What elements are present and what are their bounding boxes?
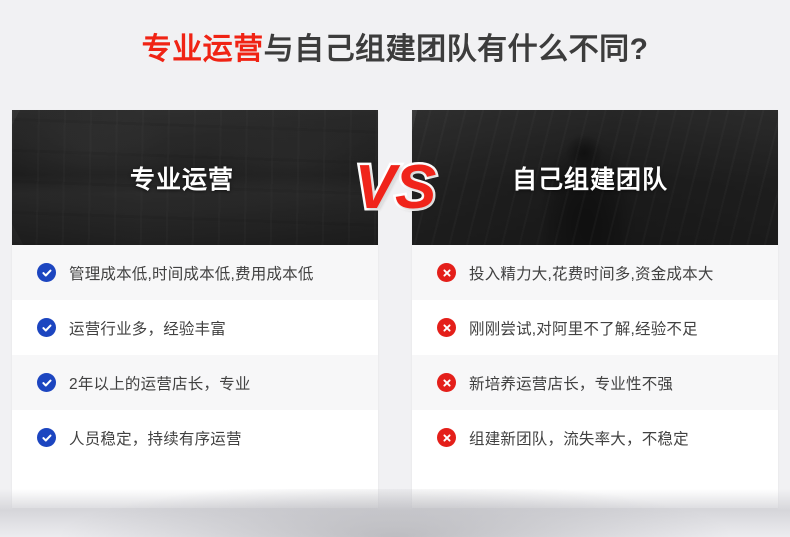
cross-circle-icon [437, 263, 456, 282]
list-item: 运营行业多，经验丰富 [12, 300, 378, 355]
feature-list-right: 投入精力大,花费时间多,资金成本大 刚刚尝试,对阿里不了解,经验不足 新培养运营… [412, 245, 778, 508]
check-circle-icon [37, 428, 56, 447]
list-item-label: 人员稳定，持续有序运营 [69, 427, 242, 449]
list-item-label: 刚刚尝试,对阿里不了解,经验不足 [469, 317, 698, 339]
feature-list-left: 管理成本低,时间成本低,费用成本低 运营行业多，经验丰富 2年以上的运营店长，专… [12, 245, 378, 508]
panel-self-built-team: 自己组建团队 投入精力大,花费时间多,资金成本大 刚刚尝试,对阿里不了解,经验不… [412, 110, 778, 508]
list-item-label: 管理成本低,时间成本低,费用成本低 [69, 262, 314, 284]
list-item: 组建新团队，流失率大，不稳定 [412, 410, 778, 465]
list-item: 管理成本低,时间成本低,费用成本低 [12, 245, 378, 300]
list-item: 人员稳定，持续有序运营 [12, 410, 378, 465]
list-item-label: 投入精力大,花费时间多,资金成本大 [469, 262, 714, 284]
panel-title-left: 专业运营 [12, 110, 378, 245]
list-item-label: 新培养运营店长，专业性不强 [469, 372, 673, 394]
list-item: 投入精力大,花费时间多,资金成本大 [412, 245, 778, 300]
list-item: 刚刚尝试,对阿里不了解,经验不足 [412, 300, 778, 355]
page-title: 专业运营与自己组建团队有什么不同? [0, 28, 790, 72]
panel-professional-operation: 专业运营 管理成本低,时间成本低,费用成本低 运营行业多，经验丰富 2年以上的运… [12, 110, 378, 508]
check-circle-icon [37, 318, 56, 337]
page-title-accent: 专业运营 [142, 33, 264, 66]
page-title-container: 专业运营与自己组建团队有什么不同? [0, 28, 790, 76]
list-item-label: 组建新团队，流失率大，不稳定 [469, 427, 689, 449]
list-item-label: 2年以上的运营店长，专业 [69, 372, 251, 394]
panel-header-left: 专业运营 [12, 110, 378, 245]
bottom-shadow-gradient [0, 489, 790, 537]
panel-title-right: 自己组建团队 [412, 110, 778, 245]
cross-circle-icon [437, 373, 456, 392]
list-item: 新培养运营店长，专业性不强 [412, 355, 778, 410]
cross-circle-icon [437, 428, 456, 447]
list-item-label: 运营行业多，经验丰富 [69, 317, 226, 339]
check-circle-icon [37, 373, 56, 392]
list-item: 2年以上的运营店长，专业 [12, 355, 378, 410]
cross-circle-icon [437, 318, 456, 337]
check-circle-icon [37, 263, 56, 282]
page-title-rest: 与自己组建团队有什么不同? [264, 33, 649, 66]
panel-header-right: 自己组建团队 [412, 110, 778, 245]
comparison-panels: 专业运营 管理成本低,时间成本低,费用成本低 运营行业多，经验丰富 2年以上的运… [12, 110, 778, 508]
